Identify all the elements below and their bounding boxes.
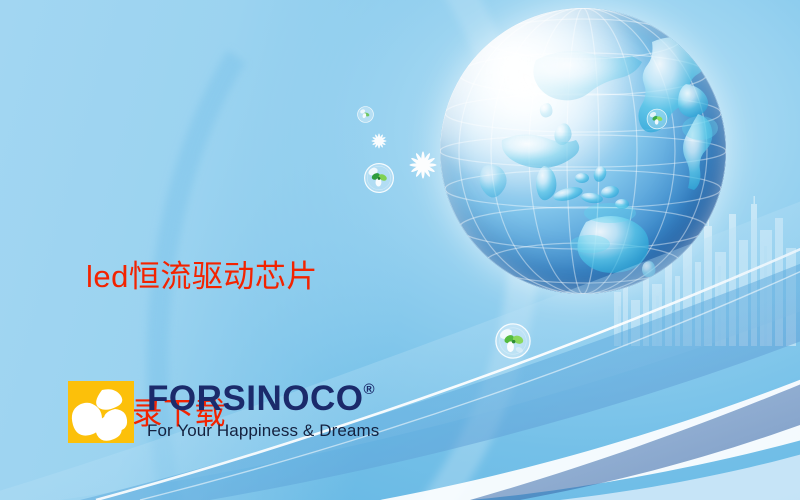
company-logo: FORSINOCO ® For Your Happiness & Dreams <box>68 381 379 443</box>
logo-wordmark-text: FORSINOCO <box>147 381 363 416</box>
bubble-pinwheel-top-icon <box>357 106 374 123</box>
promo-banner: led恒流驱动芯片 目录下载 FORSINOCO ® <box>0 0 800 500</box>
bubble-pinwheel-globe-icon <box>646 108 668 130</box>
sparkle-starburst-small-icon <box>369 131 389 151</box>
four-petal-pinwheel-icon <box>68 381 134 443</box>
logo-tagline: For Your Happiness & Dreams <box>147 421 379 441</box>
headline-text: led恒流驱动芯片 目录下载 <box>86 162 416 500</box>
logo-wordmark: FORSINOCO ® <box>147 381 379 416</box>
bubble-pinwheel-bottom-icon <box>494 322 532 360</box>
headline-line-1: led恒流驱动芯片 <box>86 254 416 300</box>
registered-trademark-icon: ® <box>363 382 375 397</box>
